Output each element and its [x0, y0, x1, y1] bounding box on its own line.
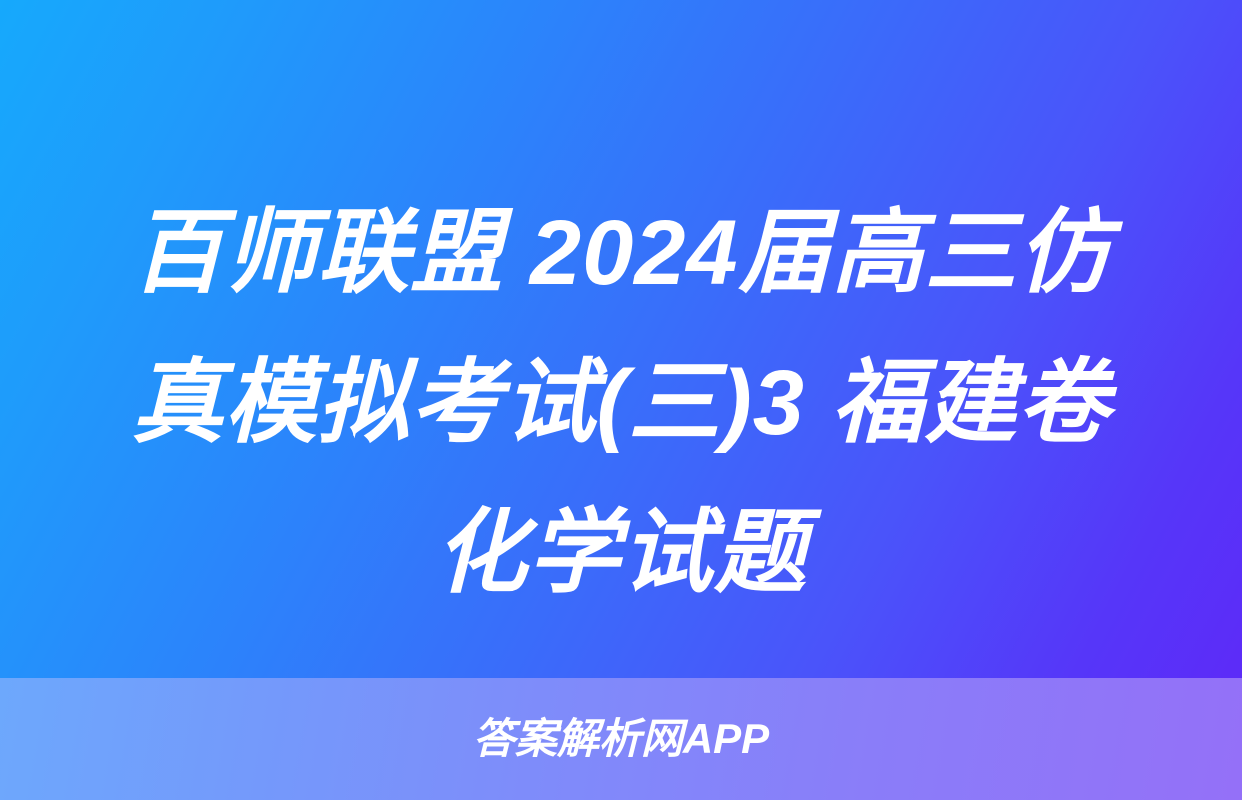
title-line-2: 真模拟考试(三)3 福建卷 — [36, 328, 1206, 478]
page-title: 百师联盟 2024届高三仿 真模拟考试(三)3 福建卷 化学试题 — [0, 178, 1242, 658]
exam-paper-banner: 百师联盟 2024届高三仿 真模拟考试(三)3 福建卷 化学试题 答案解析网AP… — [0, 0, 1242, 800]
app-brand-label: 答案解析网APP — [473, 718, 769, 760]
footer-brand-band: 答案解析网APP — [0, 678, 1242, 800]
title-line-1: 百师联盟 2024届高三仿 — [36, 178, 1206, 328]
title-line-3: 化学试题 — [36, 478, 1206, 628]
